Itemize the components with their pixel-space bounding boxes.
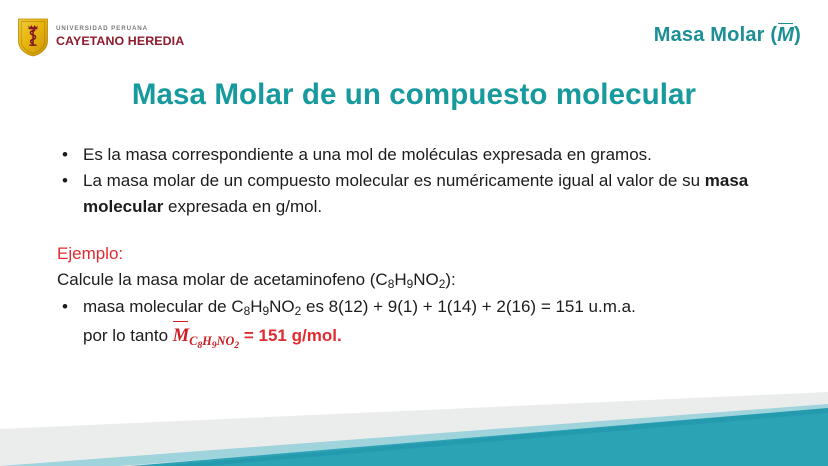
- header-subject-title: Masa Molar (M): [654, 24, 801, 47]
- conclusion-line: por lo tanto MC8H9NO2 = 151 g/mol.: [57, 322, 772, 350]
- university-logo-text: UNIVERSIDAD PERUANA CAYETANO HEREDIA: [56, 26, 184, 47]
- university-shield-icon: [17, 17, 49, 57]
- body-spacer: [57, 219, 772, 241]
- calc-no: NO: [269, 297, 295, 316]
- example-prompt: Calcule la masa molar de acetaminofeno (…: [57, 267, 772, 293]
- bullet-marker: •: [57, 168, 83, 194]
- calc-h: H: [250, 297, 262, 316]
- bullet-2-text-part-1: La masa molar de un compuesto molecular …: [83, 171, 705, 190]
- molar-mass-subscript: C8H9NO2: [189, 334, 239, 348]
- bullet-2-text-part-2: expresada en g/mol.: [163, 197, 322, 216]
- molar-mass-symbol: MC8H9NO2: [173, 326, 239, 346]
- bullet-marker: •: [57, 142, 83, 168]
- example-label: Ejemplo:: [57, 241, 772, 267]
- calculation-text: masa molecular de C8H9NO2 es 8(12) + 9(1…: [83, 294, 772, 320]
- page-title: Masa Molar de un compuesto molecular: [0, 78, 828, 112]
- sub-no: NO: [217, 334, 235, 348]
- header-title-symbol: M: [777, 24, 794, 47]
- calc-prefix: masa molecular de C: [83, 297, 244, 316]
- bottom-decoration: [0, 386, 828, 466]
- header-title-prefix: Masa Molar (: [654, 24, 778, 46]
- bullet-text-2: La masa molar de un compuesto molecular …: [83, 168, 772, 220]
- bullet-item-1: • Es la masa correspondiente a una mol d…: [57, 142, 772, 168]
- calculation-bullet: • masa molecular de C8H9NO2 es 8(12) + 9…: [57, 294, 772, 320]
- formula-h: H: [394, 270, 406, 289]
- university-logo-line-1: UNIVERSIDAD PERUANA: [56, 26, 184, 32]
- conclusion-prefix: por lo tanto: [83, 326, 173, 345]
- slide-body: • Es la masa correspondiente a una mol d…: [57, 142, 772, 350]
- slide-header: UNIVERSIDAD PERUANA CAYETANO HEREDIA Mas…: [0, 0, 828, 64]
- university-logo: UNIVERSIDAD PERUANA CAYETANO HEREDIA: [17, 17, 184, 57]
- sub-no-number: 2: [234, 340, 239, 351]
- sub-h: H: [202, 334, 212, 348]
- formula-no: NO: [413, 270, 439, 289]
- bullet-text-1: Es la masa correspondiente a una mol de …: [83, 142, 772, 168]
- example-prompt-suffix: ):: [445, 270, 455, 289]
- bullet-marker: •: [57, 294, 83, 320]
- conclusion-result: = 151 g/mol.: [244, 326, 342, 345]
- presentation-slide: UNIVERSIDAD PERUANA CAYETANO HEREDIA Mas…: [0, 0, 828, 466]
- university-logo-line-2: CAYETANO HEREDIA: [56, 35, 184, 47]
- calc-suffix: es 8(12) + 9(1) + 1(14) + 2(16) = 151 u.…: [301, 297, 636, 316]
- bullet-item-2: • La masa molar de un compuesto molecula…: [57, 168, 772, 220]
- molar-mass-m: M: [173, 322, 189, 350]
- bullet-1-text: Es la masa correspondiente a una mol de …: [83, 145, 652, 164]
- example-prompt-prefix: Calcule la masa molar de acetaminofeno (…: [57, 270, 388, 289]
- header-title-suffix: ): [794, 24, 801, 46]
